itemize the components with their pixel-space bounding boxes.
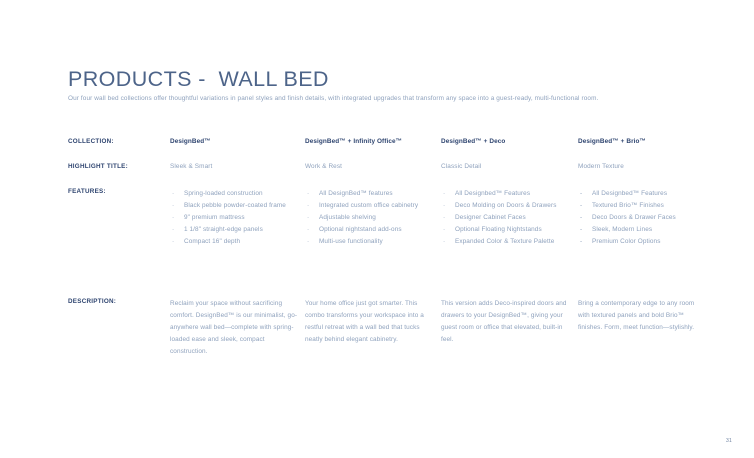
feature-item: ·Multi-use functionality bbox=[305, 236, 433, 248]
feature-item: ·Integrated custom office cabinetry bbox=[305, 200, 433, 212]
bullet-icon: - bbox=[580, 212, 582, 224]
description-cell: Bring a contemporary edge to any room wi… bbox=[578, 298, 706, 334]
collection-cell: DesignBed™ + Brio™ bbox=[578, 138, 706, 146]
bullet-icon: · bbox=[307, 224, 309, 236]
feature-list: ·All Designbed™ Features·Deco Molding on… bbox=[441, 188, 569, 248]
collection-name: DesignBed™ + Brio™ bbox=[578, 138, 706, 146]
bullet-icon: · bbox=[307, 188, 309, 200]
feature-item-label: Sleek, Modern Lines bbox=[592, 226, 652, 233]
description-text: This version adds Deco-inspired doors an… bbox=[441, 298, 569, 346]
feature-item-label: All Designbed™ Features bbox=[455, 190, 530, 197]
page-number: 31 bbox=[726, 438, 732, 444]
feature-item: ·Optional nightstand add-ons bbox=[305, 224, 433, 236]
feature-item-label: 1 1/8" straight-edge panels bbox=[184, 226, 263, 233]
highlight-title-text: Modern Texture bbox=[578, 163, 706, 171]
feature-list: ·Spring-loaded construction·Black pebble… bbox=[170, 188, 298, 248]
features-cell: ·All Designbed™ Features·Deco Molding on… bbox=[441, 188, 569, 248]
collection-name: DesignBed™ bbox=[170, 138, 298, 146]
feature-item-label: Multi-use functionality bbox=[319, 238, 383, 245]
feature-item: ·All DesignBed™ features bbox=[305, 188, 433, 200]
highlight-title-cell: Classic Detail bbox=[441, 163, 569, 171]
feature-item-label: Compact 16" depth bbox=[184, 238, 240, 245]
feature-item-label: 9" premium mattress bbox=[184, 214, 245, 221]
bullet-icon: · bbox=[443, 200, 445, 212]
description-text: Your home office just got smarter. This … bbox=[305, 298, 433, 346]
feature-list: -All Designbed™ Features-Textured Brio™ … bbox=[578, 188, 706, 248]
feature-item: ·Deco Molding on Doors & Drawers bbox=[441, 200, 569, 212]
collection-cell: DesignBed™ bbox=[170, 138, 298, 146]
feature-item-label: Textured Brio™ Finishes bbox=[592, 202, 664, 209]
feature-item: -All Designbed™ Features bbox=[578, 188, 706, 200]
feature-item-label: Integrated custom office cabinetry bbox=[319, 202, 418, 209]
feature-item-label: Premium Color Options bbox=[592, 238, 661, 245]
bullet-icon: · bbox=[443, 212, 445, 224]
bullet-icon: - bbox=[580, 236, 582, 248]
bullet-icon: · bbox=[172, 236, 174, 248]
description-text: Reclaim your space without sacrificing c… bbox=[170, 298, 298, 358]
feature-item: ·Spring-loaded construction bbox=[170, 188, 298, 200]
feature-item-label: Adjustable shelving bbox=[319, 214, 376, 221]
feature-item: ·1 1/8" straight-edge panels bbox=[170, 224, 298, 236]
highlight-title-cell: Sleek & Smart bbox=[170, 163, 298, 171]
feature-item: -Sleek, Modern Lines bbox=[578, 224, 706, 236]
bullet-icon: · bbox=[443, 224, 445, 236]
feature-item-label: Black pebble powder-coated frame bbox=[184, 202, 286, 209]
feature-item: ·9" premium mattress bbox=[170, 212, 298, 224]
feature-item: -Textured Brio™ Finishes bbox=[578, 200, 706, 212]
feature-item-label: Designer Cabinet Faces bbox=[455, 214, 526, 221]
page-subtitle: Our four wall bed collections offer thou… bbox=[68, 95, 598, 102]
description-text: Bring a contemporary edge to any room wi… bbox=[578, 298, 706, 334]
row-label-features: FEATURES: bbox=[68, 188, 164, 196]
row-label-highlight-title: HIGHLIGHT TITLE: bbox=[68, 163, 164, 171]
feature-item: ·Designer Cabinet Faces bbox=[441, 212, 569, 224]
bullet-icon: - bbox=[580, 188, 582, 200]
bullet-icon: · bbox=[307, 212, 309, 224]
bullet-icon: - bbox=[580, 200, 582, 212]
bullet-icon: · bbox=[172, 224, 174, 236]
feature-item-label: Optional Floating Nightstands bbox=[455, 226, 542, 233]
highlight-title-text: Sleek & Smart bbox=[170, 163, 298, 171]
feature-item: ·Optional Floating Nightstands bbox=[441, 224, 569, 236]
feature-item-label: All Designbed™ Features bbox=[592, 190, 667, 197]
bullet-icon: · bbox=[307, 236, 309, 248]
features-cell: ·Spring-loaded construction·Black pebble… bbox=[170, 188, 298, 248]
highlight-title-cell: Work & Rest bbox=[305, 163, 433, 171]
bullet-icon: · bbox=[307, 200, 309, 212]
bullet-icon: · bbox=[443, 188, 445, 200]
feature-item-label: Optional nightstand add-ons bbox=[319, 226, 402, 233]
description-cell: Your home office just got smarter. This … bbox=[305, 298, 433, 346]
collection-name: DesignBed™ + Deco bbox=[441, 138, 569, 146]
features-cell: ·All DesignBed™ features·Integrated cust… bbox=[305, 188, 433, 248]
description-cell: Reclaim your space without sacrificing c… bbox=[170, 298, 298, 358]
row-label-description: DESCRIPTION: bbox=[68, 298, 164, 306]
feature-item: ·All Designbed™ Features bbox=[441, 188, 569, 200]
feature-item-label: Spring-loaded construction bbox=[184, 190, 263, 197]
feature-item-label: All DesignBed™ features bbox=[319, 190, 393, 197]
features-cell: -All Designbed™ Features-Textured Brio™ … bbox=[578, 188, 706, 248]
collection-name: DesignBed™ + Infinity Office™ bbox=[305, 138, 433, 146]
bullet-icon: · bbox=[443, 236, 445, 248]
feature-item: ·Adjustable shelving bbox=[305, 212, 433, 224]
feature-list: ·All DesignBed™ features·Integrated cust… bbox=[305, 188, 433, 248]
feature-item: ·Compact 16" depth bbox=[170, 236, 298, 248]
feature-item-label: Deco Doors & Drawer Faces bbox=[592, 214, 676, 221]
bullet-icon: · bbox=[172, 200, 174, 212]
feature-item: ·Expanded Color & Texture Palette bbox=[441, 236, 569, 248]
bullet-icon: · bbox=[172, 188, 174, 200]
slide-page: PRODUCTS - WALL BED Our four wall bed co… bbox=[0, 0, 754, 458]
page-title: PRODUCTS - WALL BED bbox=[68, 68, 329, 92]
feature-item: -Premium Color Options bbox=[578, 236, 706, 248]
description-cell: This version adds Deco-inspired doors an… bbox=[441, 298, 569, 346]
feature-item: ·Black pebble powder-coated frame bbox=[170, 200, 298, 212]
row-label-collection: COLLECTION: bbox=[68, 138, 164, 146]
collection-cell: DesignBed™ + Deco bbox=[441, 138, 569, 146]
highlight-title-cell: Modern Texture bbox=[578, 163, 706, 171]
bullet-icon: · bbox=[172, 212, 174, 224]
feature-item-label: Expanded Color & Texture Palette bbox=[455, 238, 554, 245]
feature-item: -Deco Doors & Drawer Faces bbox=[578, 212, 706, 224]
collection-cell: DesignBed™ + Infinity Office™ bbox=[305, 138, 433, 146]
highlight-title-text: Classic Detail bbox=[441, 163, 569, 171]
bullet-icon: - bbox=[580, 224, 582, 236]
feature-item-label: Deco Molding on Doors & Drawers bbox=[455, 202, 556, 209]
highlight-title-text: Work & Rest bbox=[305, 163, 433, 171]
